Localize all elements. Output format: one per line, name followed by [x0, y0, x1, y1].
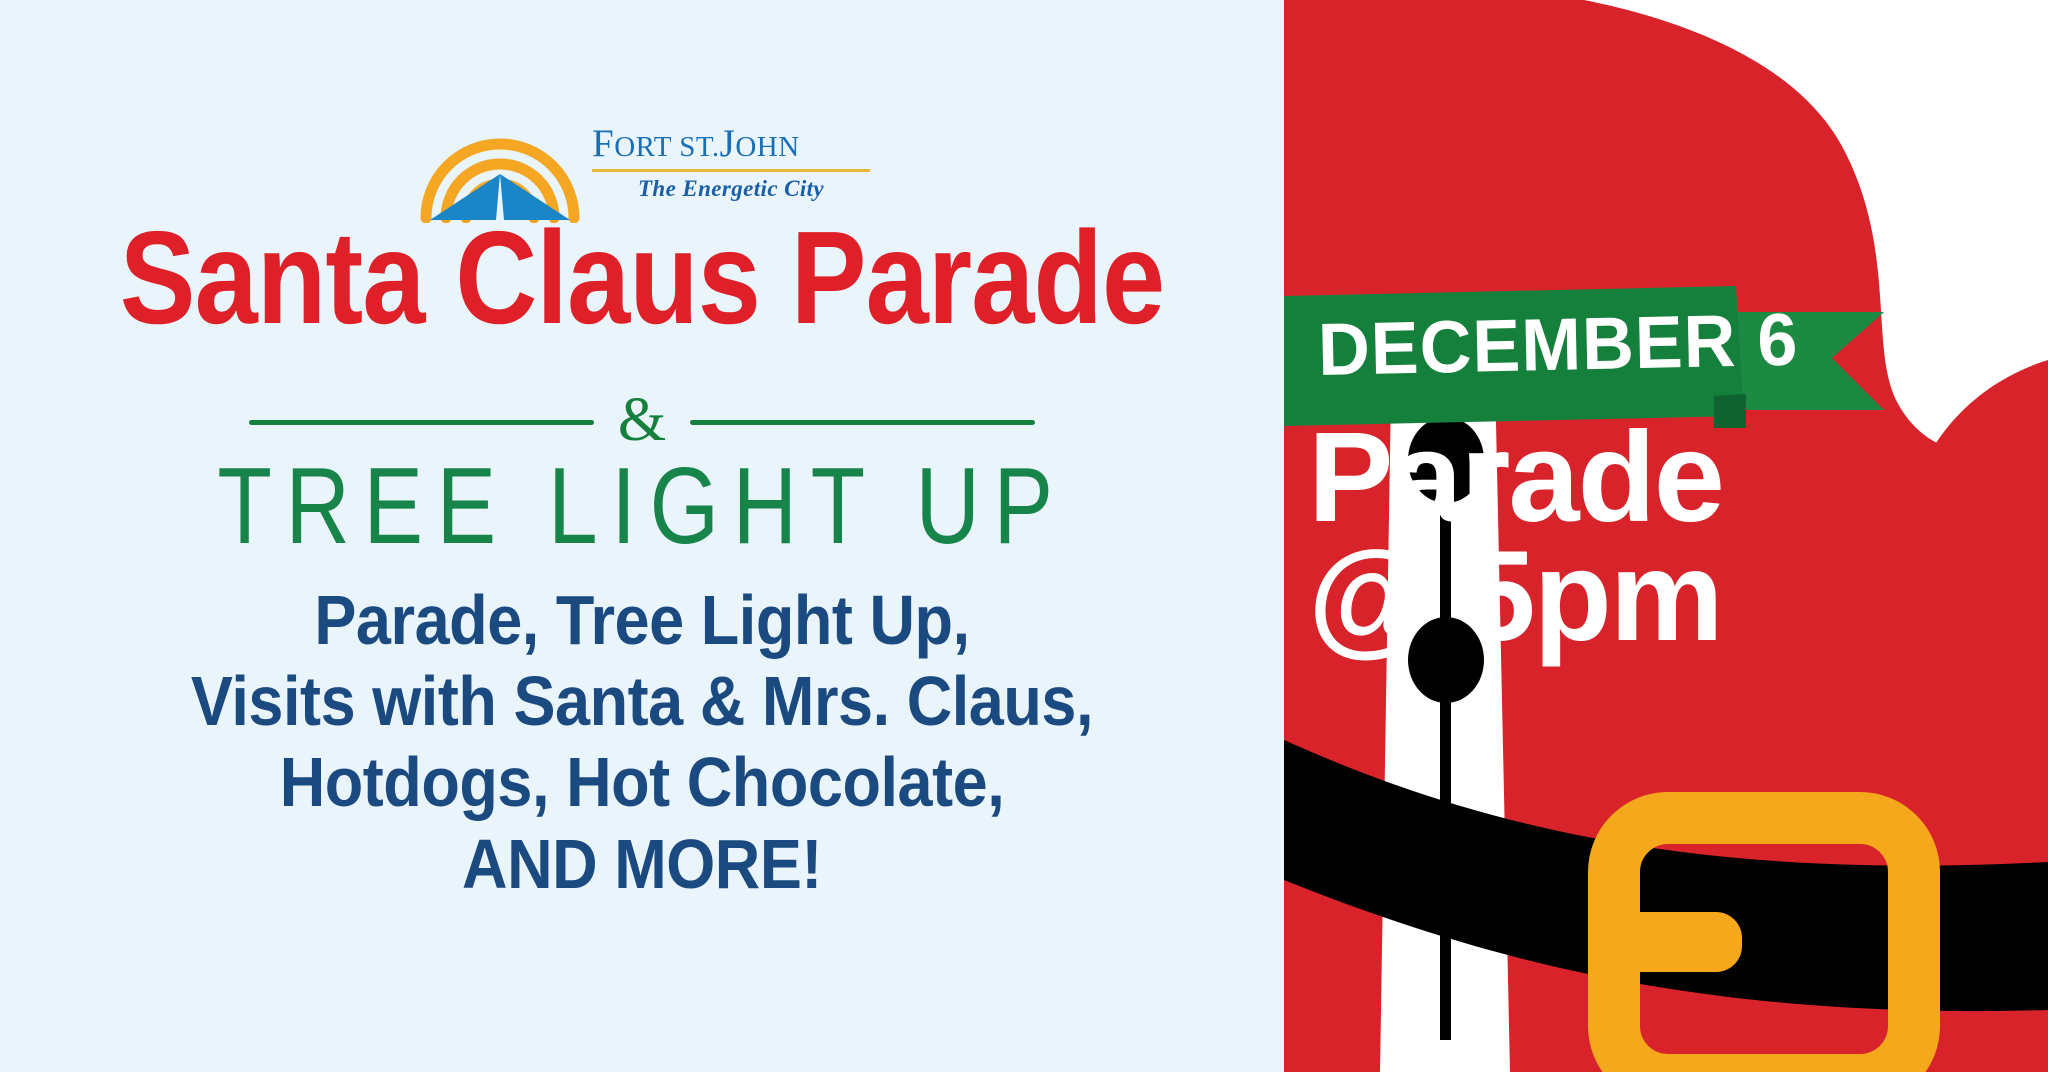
- logo-divider-rule: [592, 169, 870, 172]
- logo-wordmark: FORT ST.JOHN The Energetic City: [592, 124, 870, 202]
- divider-rule-left: [249, 420, 594, 425]
- page-title: Santa Claus Parade: [90, 212, 1194, 344]
- logo-tagline: The Energetic City: [592, 176, 870, 202]
- detail-line: AND MORE!: [64, 824, 1220, 905]
- divider-rule-right: [690, 420, 1035, 425]
- detail-line: Visits with Santa & Mrs. Claus,: [64, 661, 1220, 742]
- logo-city-name: FORT ST.JOHN: [592, 124, 870, 163]
- left-content-panel: FORT ST.JOHN The Energetic City Santa Cl…: [0, 0, 1284, 1072]
- banner-date-text: DECEMBER 6: [1317, 294, 1775, 396]
- parade-time-block: Parade @ 5pm: [1308, 418, 1778, 656]
- detail-line: Hotdogs, Hot Chocolate,: [64, 742, 1220, 823]
- page-subtitle: TREE LIGHT UP: [19, 452, 1264, 561]
- ampersand-glyph: &: [594, 389, 690, 451]
- date-banner: DECEMBER 6: [1284, 278, 1924, 418]
- detail-line: Parade, Tree Light Up,: [64, 580, 1220, 661]
- santa-illustration-panel: DECEMBER 6 Parade @ 5pm: [1284, 0, 2048, 1072]
- event-details-list: Parade, Tree Light Up, Visits with Santa…: [0, 580, 1284, 905]
- poster-canvas: FORT ST.JOHN The Energetic City Santa Cl…: [0, 0, 2048, 1072]
- parade-label: Parade: [1308, 418, 1778, 537]
- parade-time-value: @ 5pm: [1308, 537, 1778, 656]
- buckle-prong: [1614, 912, 1742, 972]
